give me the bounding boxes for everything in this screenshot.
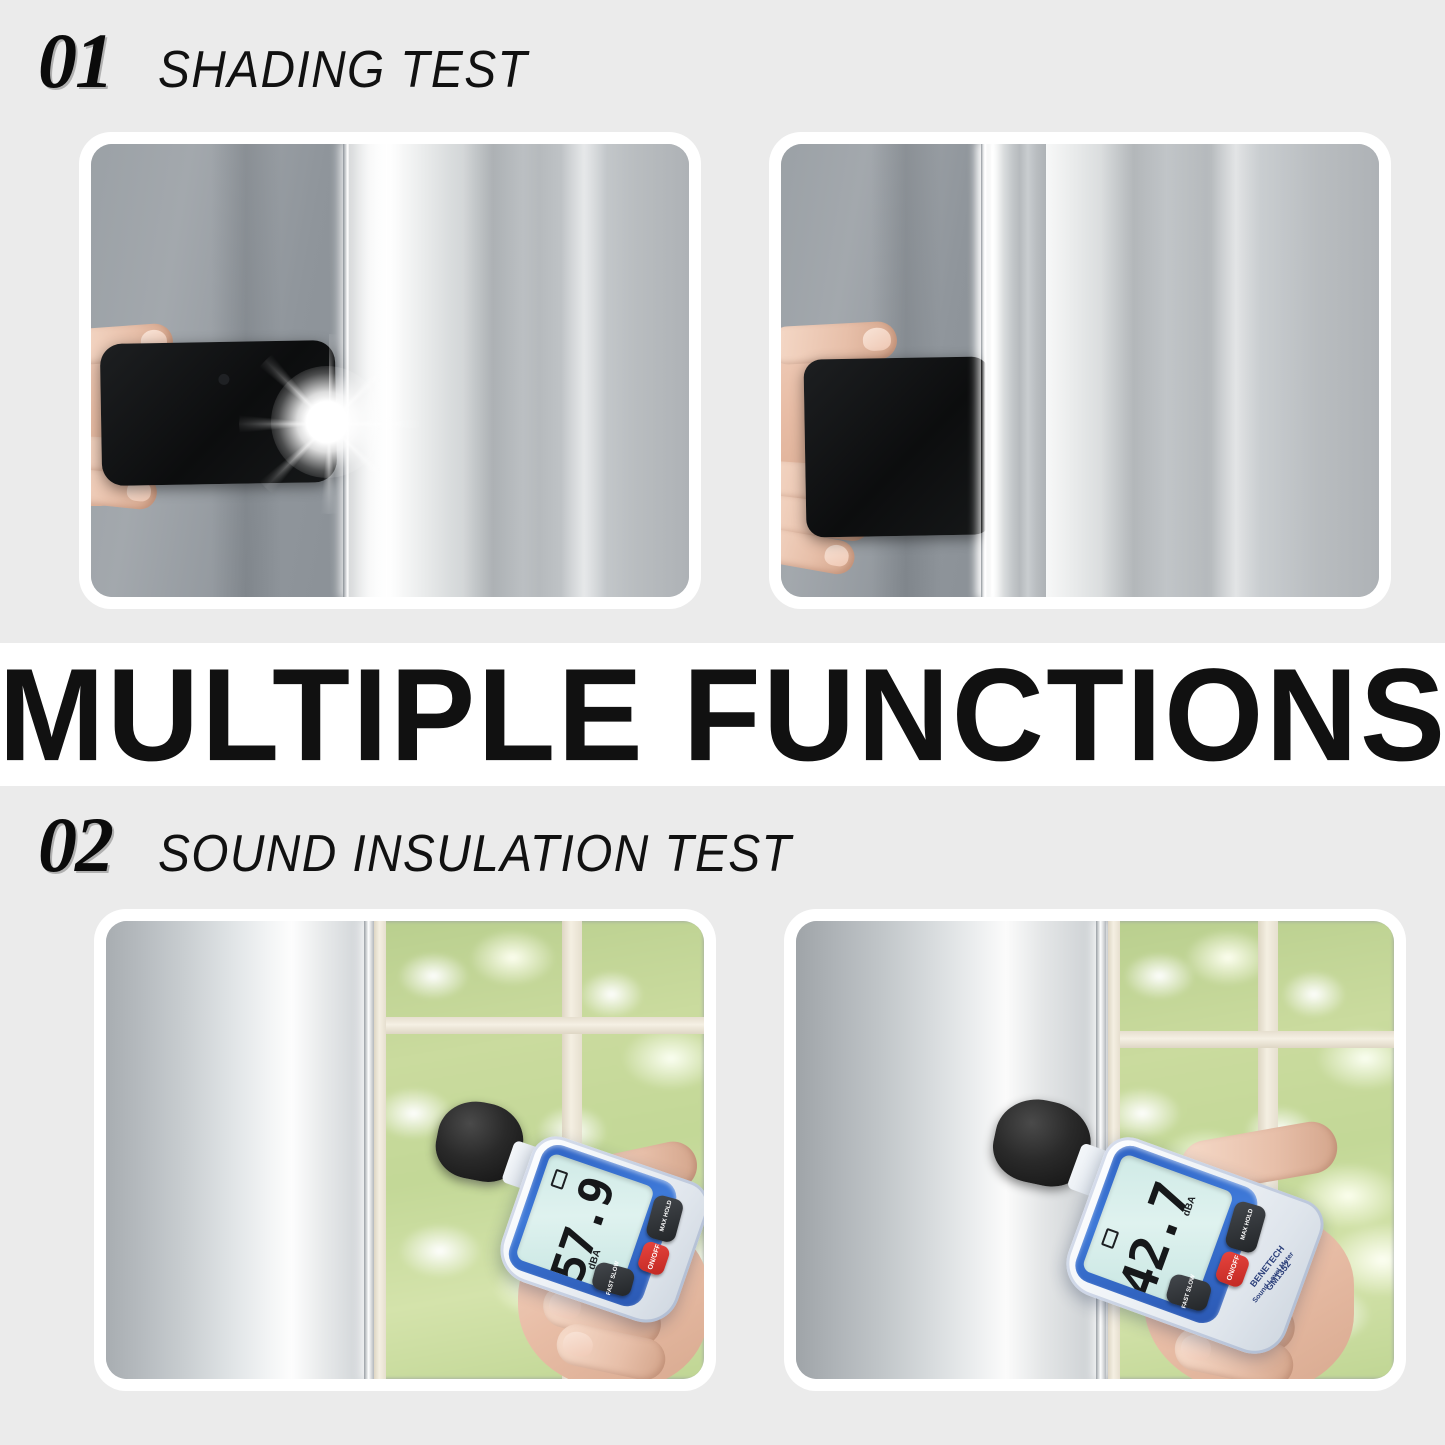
panel-sound-window-open: 57.9 dBA MAX HOLD ON/OFF FAST SLOW <box>100 915 710 1385</box>
flashlight-glow <box>271 366 383 478</box>
max-hold-label: MAX HOLD <box>1238 1202 1256 1248</box>
curtain-seam <box>364 921 374 1379</box>
fingernail <box>862 327 891 351</box>
phone-camera <box>218 374 229 385</box>
section-01-title: SHADING TEST <box>158 44 528 96</box>
window-mullion-horizontal <box>374 1017 704 1034</box>
section-02-header: 02 SOUND INSULATION TEST <box>38 806 847 884</box>
window-frame-left <box>374 921 386 1379</box>
fingernail <box>823 543 850 568</box>
panel-3-photo: 57.9 dBA MAX HOLD ON/OFF FAST SLOW <box>106 921 704 1379</box>
fast-slow-label: FAST SLOW <box>1181 1273 1197 1311</box>
panel-shading-light-blocked <box>775 138 1385 603</box>
fast-slow-label: FAST SLOW <box>606 1260 621 1296</box>
section-01-number: 01 <box>38 22 112 100</box>
infographic-page: 01 SHADING TEST <box>0 0 1445 1445</box>
banner-title: MULTIPLE FUNCTIONS <box>0 649 1445 781</box>
max-hold-label: MAX HOLD <box>658 1194 675 1238</box>
fingernail <box>561 1329 595 1359</box>
section-01-header: 01 SHADING TEST <box>38 22 560 100</box>
panel-shading-light-on <box>85 138 695 603</box>
panel-2-photo <box>781 144 1379 597</box>
battery-icon <box>550 1169 568 1190</box>
section-02-title: SOUND INSULATION TEST <box>158 828 792 880</box>
battery-icon <box>1101 1228 1119 1249</box>
section-02-number: 02 <box>38 806 112 884</box>
curtain-bright-left <box>106 921 364 1379</box>
curtain-overlap <box>986 144 1046 597</box>
panel-1-photo <box>91 144 689 597</box>
curtain-seam-front <box>981 144 991 597</box>
panel-4-photo: 42.7 dBA MAX HOLD ON/OFF FAST SLOW BENET… <box>796 921 1394 1379</box>
power-label: ON/OFF <box>645 1237 665 1277</box>
power-label: ON/OFF <box>1223 1247 1244 1289</box>
smartphone <box>803 356 992 537</box>
window-mullion-horizontal <box>1108 1031 1394 1048</box>
panel-sound-curtain-closed: 42.7 dBA MAX HOLD ON/OFF FAST SLOW BENET… <box>790 915 1400 1385</box>
multiple-functions-banner: MULTIPLE FUNCTIONS <box>0 643 1445 786</box>
